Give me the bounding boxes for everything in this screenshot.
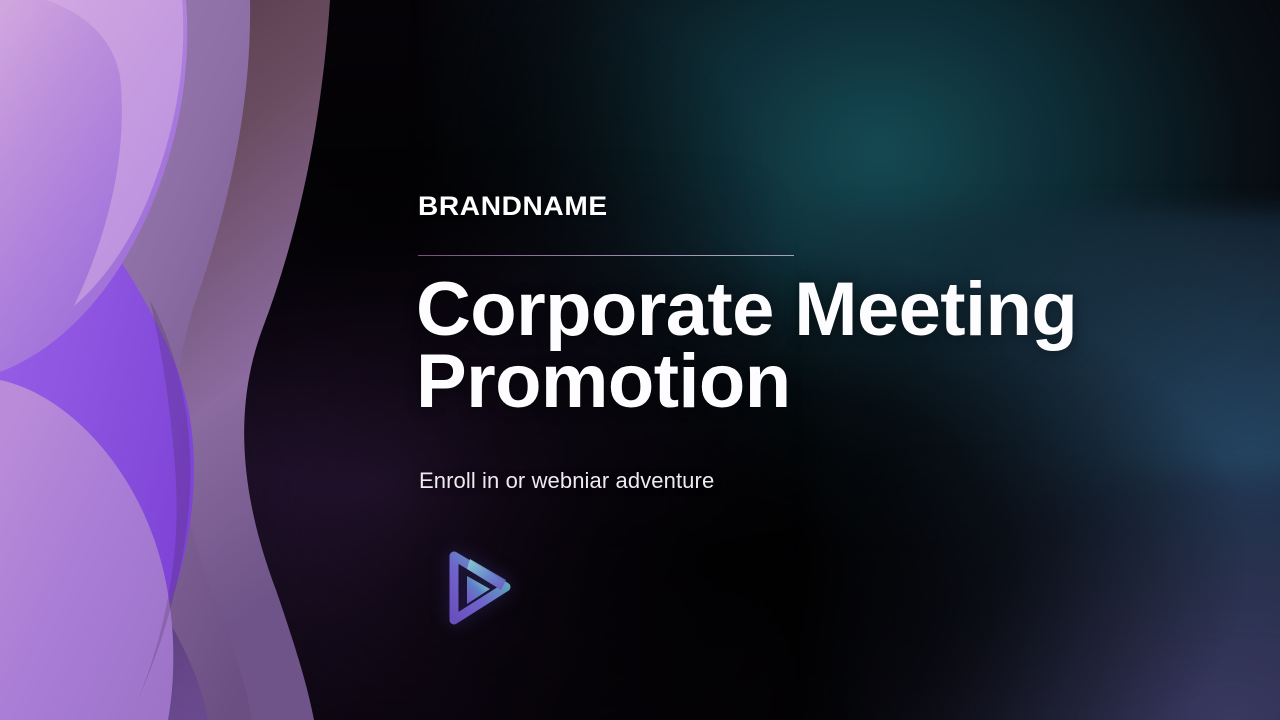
play-triangle-icon xyxy=(434,546,518,630)
decorative-ribbon-panel xyxy=(0,0,330,720)
content-column: BRANDNAME Corporate Meeting Promotion En… xyxy=(416,0,1216,720)
ribbon-artwork xyxy=(0,0,330,720)
headline-line-1: Corporate Meeting xyxy=(416,274,1206,346)
promo-slide: BRANDNAME Corporate Meeting Promotion En… xyxy=(0,0,1280,720)
headline-line-2: Promotion xyxy=(416,346,1206,418)
subtitle: Enroll in or webniar adventure xyxy=(419,468,714,494)
divider-rule xyxy=(418,255,794,256)
brand-name: BRANDNAME xyxy=(418,191,608,222)
play-triangle-logo[interactable] xyxy=(434,546,518,630)
page-title: Corporate Meeting Promotion xyxy=(416,274,1206,418)
